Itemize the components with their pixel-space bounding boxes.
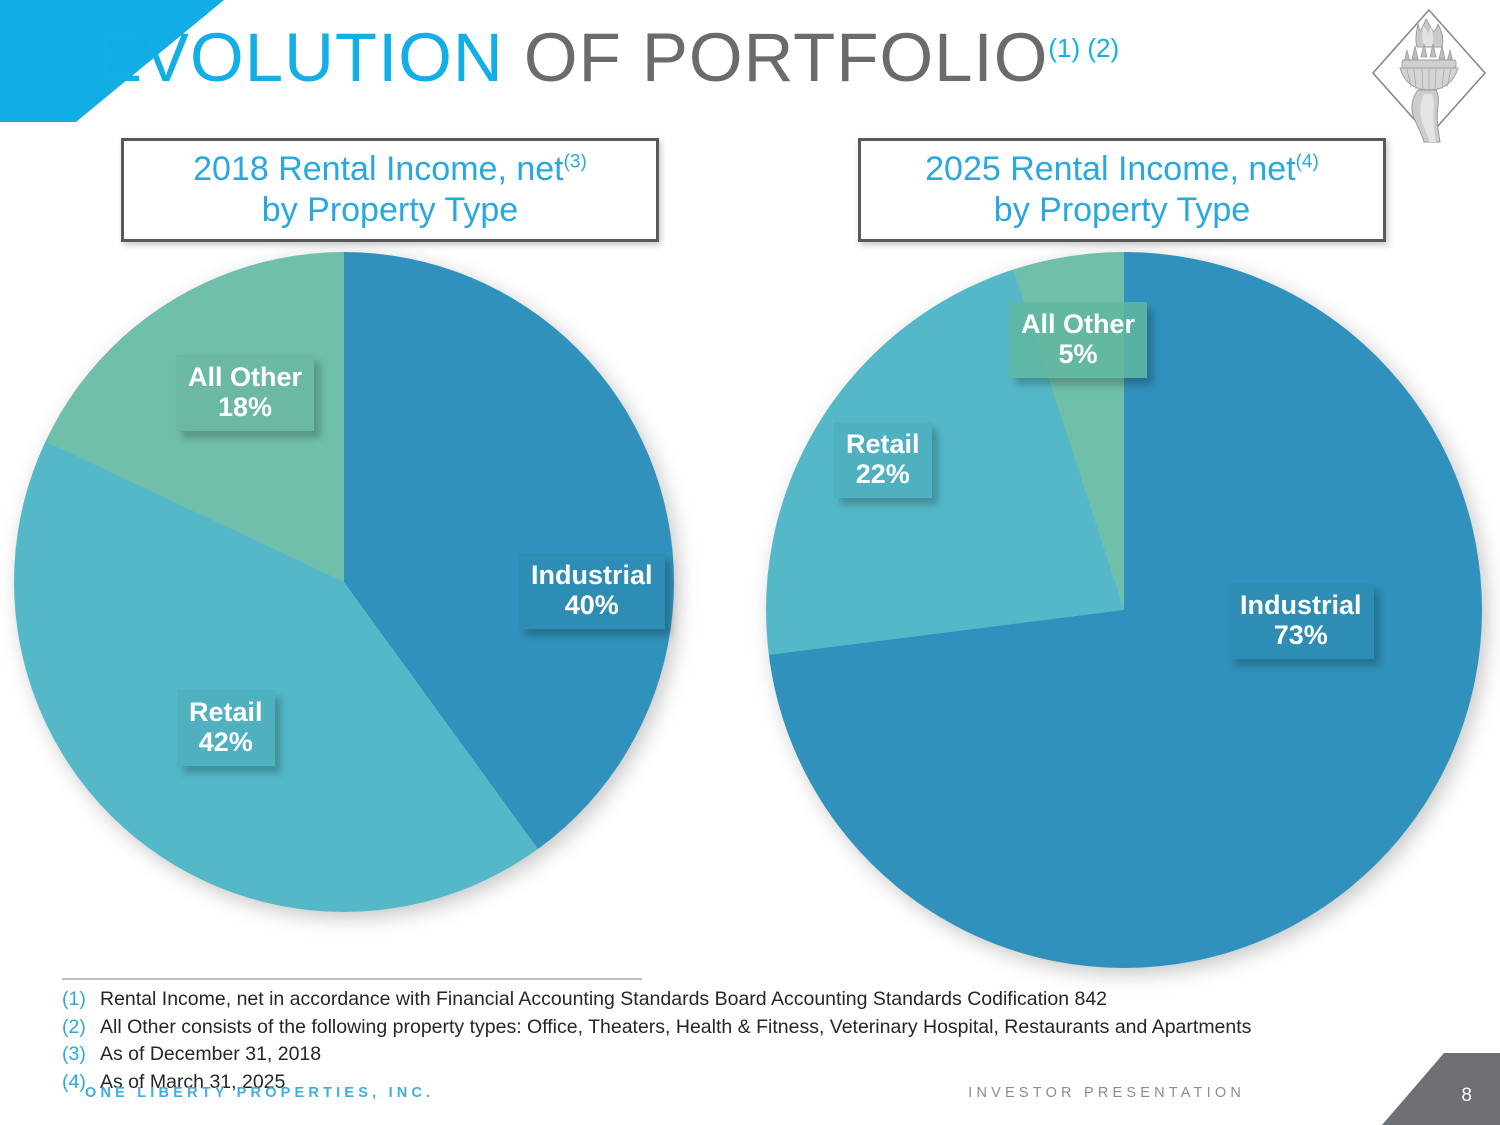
pie-slice-label-retail-2025-value: 22%: [846, 459, 920, 489]
chart-title-box-2018: 2018 Rental Income, net(3) by Property T…: [121, 138, 659, 242]
pie-slice-label-all-other-2025: All Other 5%: [1009, 302, 1147, 378]
chart-title-2025-line1: 2025 Rental Income, net: [925, 150, 1295, 188]
pie-slice-label-retail-2025: Retail 22%: [834, 422, 932, 498]
footnote-text: All Other consists of the following prop…: [100, 1014, 1251, 1042]
chart-title-box-2025: 2025 Rental Income, net(4) by Property T…: [858, 138, 1386, 242]
pie-slice-label-all-other-2018: All Other 18%: [176, 355, 314, 431]
pie-slice-label-all-other-2018-value: 18%: [188, 392, 302, 422]
footnote-marker: (3): [62, 1041, 100, 1069]
footnotes-list: (1) Rental Income, net in accordance wit…: [62, 986, 1422, 1097]
pie-chart-2025: All Other 5% Retail 22% Industrial 73%: [766, 252, 1482, 968]
page-title-superscripts: (1) (2): [1048, 33, 1119, 63]
pie-slice-label-industrial-2025: Industrial 73%: [1228, 583, 1374, 659]
chart-title-2018-superscript: (3): [564, 151, 587, 172]
chart-title-2018-line1: 2018 Rental Income, net: [193, 150, 563, 188]
pie-slice-label-retail-2025-category: Retail: [846, 429, 920, 459]
page-title: EVOLUTION OF PORTFOLIO(1) (2): [96, 22, 1119, 94]
footer-company-name: ONE LIBERTY PROPERTIES, INC.: [85, 1085, 434, 1101]
footnote-text: As of December 31, 2018: [100, 1041, 321, 1069]
chart-title-2018-line2: by Property Type: [262, 191, 518, 229]
page-title-emphasis: EVOLUTION: [96, 19, 504, 96]
pie-slice-label-retail-2018-category: Retail: [189, 697, 263, 727]
footnote-row: (3) As of December 31, 2018: [62, 1041, 1422, 1069]
pie-slice-label-industrial-2018: Industrial 40%: [519, 553, 665, 629]
footnote-marker: (1): [62, 986, 100, 1014]
pie-slice-label-industrial-2025-value: 73%: [1240, 620, 1362, 650]
chart-title-2025-superscript: (4): [1296, 151, 1319, 172]
pie-chart-2018: All Other 18% Retail 42% Industrial 40%: [14, 252, 674, 912]
pie-slice-label-all-other-2025-value: 5%: [1021, 339, 1135, 369]
pie-slice-label-all-other-2025-category: All Other: [1021, 309, 1135, 339]
page-title-rest: OF PORTFOLIO: [504, 19, 1049, 96]
pie-slice-label-all-other-2018-category: All Other: [188, 362, 302, 392]
footnote-row: (2) All Other consists of the following …: [62, 1014, 1422, 1042]
pie-slice-label-industrial-2018-category: Industrial: [531, 560, 653, 590]
pie-slice-label-retail-2018: Retail 42%: [177, 690, 275, 766]
footnote-row: (1) Rental Income, net in accordance wit…: [62, 986, 1422, 1014]
footer-deck-name: INVESTOR PRESENTATION: [968, 1085, 1245, 1101]
page-number: 8: [1461, 1085, 1472, 1107]
footnote-marker: (2): [62, 1014, 100, 1042]
pie-slice-label-industrial-2018-value: 40%: [531, 590, 653, 620]
chart-title-2025-line2: by Property Type: [994, 191, 1250, 229]
pie-slice-label-industrial-2025-category: Industrial: [1240, 590, 1362, 620]
footnote-divider: [62, 978, 642, 980]
slide: EVOLUTION OF PORTFOLIO(1) (2): [0, 0, 1500, 1125]
pie-slice-label-retail-2018-value: 42%: [189, 727, 263, 757]
footnote-text: Rental Income, net in accordance with Fi…: [100, 986, 1107, 1014]
statue-of-liberty-torch-logo: [1366, 2, 1492, 152]
